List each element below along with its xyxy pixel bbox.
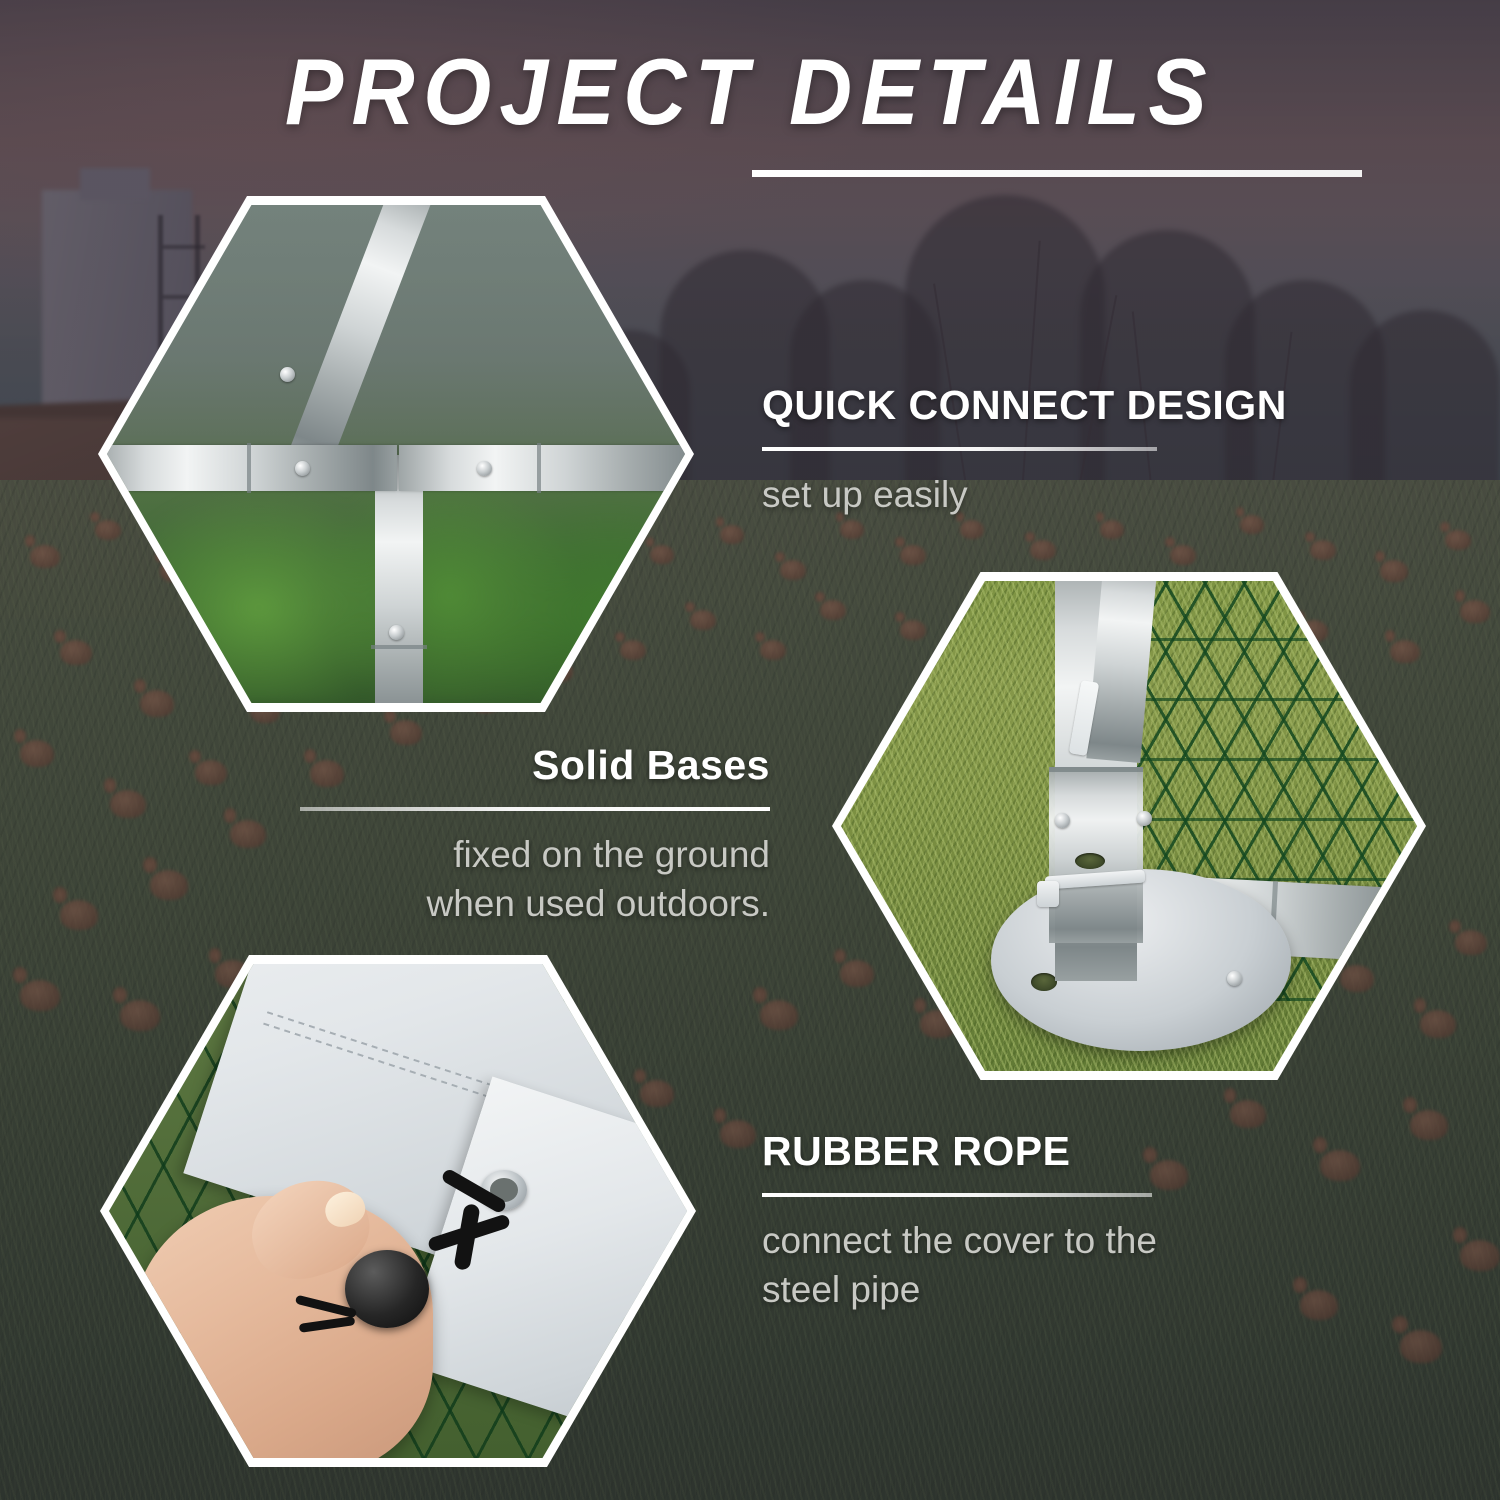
page-title: PROJECT DETAILS	[53, 38, 1448, 146]
base-plate-photo	[832, 572, 1426, 1080]
feature-body-line-2: when used outdoors.	[426, 883, 770, 924]
vertical-pipe	[375, 455, 423, 703]
screw-rail	[1227, 971, 1242, 986]
feature-solid-bases: Solid Bases fixed on the ground when use…	[250, 742, 770, 929]
screw-left	[295, 461, 310, 476]
screw-lower	[389, 625, 404, 640]
screw-upper	[280, 367, 295, 382]
zip-tie-head	[1037, 881, 1059, 907]
title-divider	[752, 170, 1362, 177]
rubber-rope-photo	[100, 955, 696, 1467]
anchor-hole	[1031, 973, 1057, 991]
feature-body-line-1: fixed on the ground	[453, 834, 770, 875]
feature-rubber-rope: RUBBER ROPE connect the cover to the ste…	[762, 1128, 1362, 1315]
feature-heading: QUICK CONNECT DESIGN	[762, 382, 1362, 429]
screw-right	[477, 461, 492, 476]
feature-heading: RUBBER ROPE	[762, 1128, 1362, 1175]
rubber-ball	[345, 1250, 429, 1328]
feature-body: set up easily	[762, 471, 1362, 520]
feature-divider	[300, 807, 770, 811]
sleeve-slot	[1075, 853, 1105, 869]
feature-body: connect the cover to the steel pipe	[762, 1217, 1362, 1315]
feature-heading: Solid Bases	[250, 742, 770, 789]
pipe-connector-image	[107, 205, 685, 703]
pipe-connector-photo	[98, 196, 694, 712]
screw-collar-right	[1137, 811, 1152, 826]
rubber-rope-image	[109, 964, 687, 1458]
screw-collar-left	[1055, 813, 1070, 828]
feature-quick-connect-design: QUICK CONNECT DESIGN set up easily	[762, 382, 1362, 520]
left-horizontal-pipe	[107, 445, 397, 491]
feature-divider	[762, 447, 1157, 451]
feature-body: fixed on the ground when used outdoors.	[250, 831, 770, 929]
feature-body-line-1: connect the cover to the	[762, 1220, 1157, 1261]
feature-divider	[762, 1193, 1152, 1197]
right-horizontal-pipe	[399, 445, 685, 491]
base-plate-image	[841, 581, 1417, 1071]
feature-body-line-2: steel pipe	[762, 1269, 920, 1310]
